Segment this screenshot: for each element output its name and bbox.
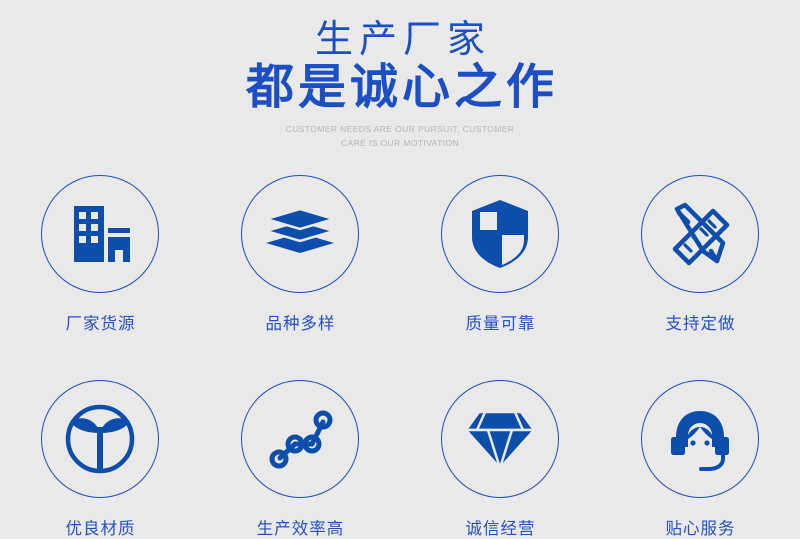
- promo-banner: 生产厂家 都是诚心之作 CUSTOMER NEEDS ARE OUR PURSU…: [0, 0, 800, 537]
- feature-label: 品种多样: [265, 310, 336, 334]
- icon-circle: [441, 175, 559, 293]
- feature-label: 贴心服务: [665, 515, 736, 539]
- feature-label: 支持定做: [665, 310, 736, 334]
- page-title-line-2: 都是诚心之作: [0, 60, 800, 116]
- header: 生产厂家 都是诚心之作 CUSTOMER NEEDS ARE OUR PURSU…: [0, 0, 800, 150]
- diamond-icon: [463, 406, 537, 472]
- subtitle-line-1: CUSTOMER NEEDS ARE OUR PURSUIT, CUSTOMER: [0, 122, 800, 136]
- factory-building-icon: [66, 202, 134, 266]
- feature-item-variety[interactable]: 品种多样: [200, 175, 400, 334]
- page-title-line-1: 生产厂家: [0, 18, 800, 62]
- feature-grid: 厂家货源 品种多样: [0, 175, 800, 539]
- icon-circle: [241, 380, 359, 498]
- feature-label: 质量可靠: [465, 310, 536, 334]
- icon-circle: [41, 175, 159, 293]
- subtitle-line-2: CARE IS OUR MOTIVATION: [0, 136, 800, 150]
- feature-item-customization[interactable]: 支持定做: [600, 175, 800, 334]
- feature-label: 诚信经营: [465, 515, 536, 539]
- icon-circle: [241, 175, 359, 293]
- shield-icon: [468, 198, 532, 270]
- feature-label: 优良材质: [65, 515, 136, 539]
- feature-label: 生产效率高: [256, 515, 345, 539]
- sprout-leaf-icon: [64, 403, 136, 475]
- feature-item-material[interactable]: 优良材质: [0, 380, 200, 539]
- icon-circle: [441, 380, 559, 498]
- feature-label: 厂家货源: [65, 310, 136, 334]
- icon-circle: [641, 380, 759, 498]
- line-chart-nodes-icon: [267, 406, 333, 472]
- icon-circle: [641, 175, 759, 293]
- feature-item-service[interactable]: 贴心服务: [600, 380, 800, 539]
- subtitle: CUSTOMER NEEDS ARE OUR PURSUIT, CUSTOMER…: [0, 122, 800, 150]
- icon-circle: [41, 380, 159, 498]
- feature-item-efficiency[interactable]: 生产效率高: [200, 380, 400, 539]
- feature-item-integrity[interactable]: 诚信经营: [400, 380, 600, 539]
- stacked-layers-icon: [262, 203, 338, 265]
- pen-ruler-icon: [665, 199, 735, 269]
- headset-support-icon: [664, 405, 736, 473]
- feature-item-quality[interactable]: 质量可靠: [400, 175, 600, 334]
- feature-item-factory-source[interactable]: 厂家货源: [0, 175, 200, 334]
